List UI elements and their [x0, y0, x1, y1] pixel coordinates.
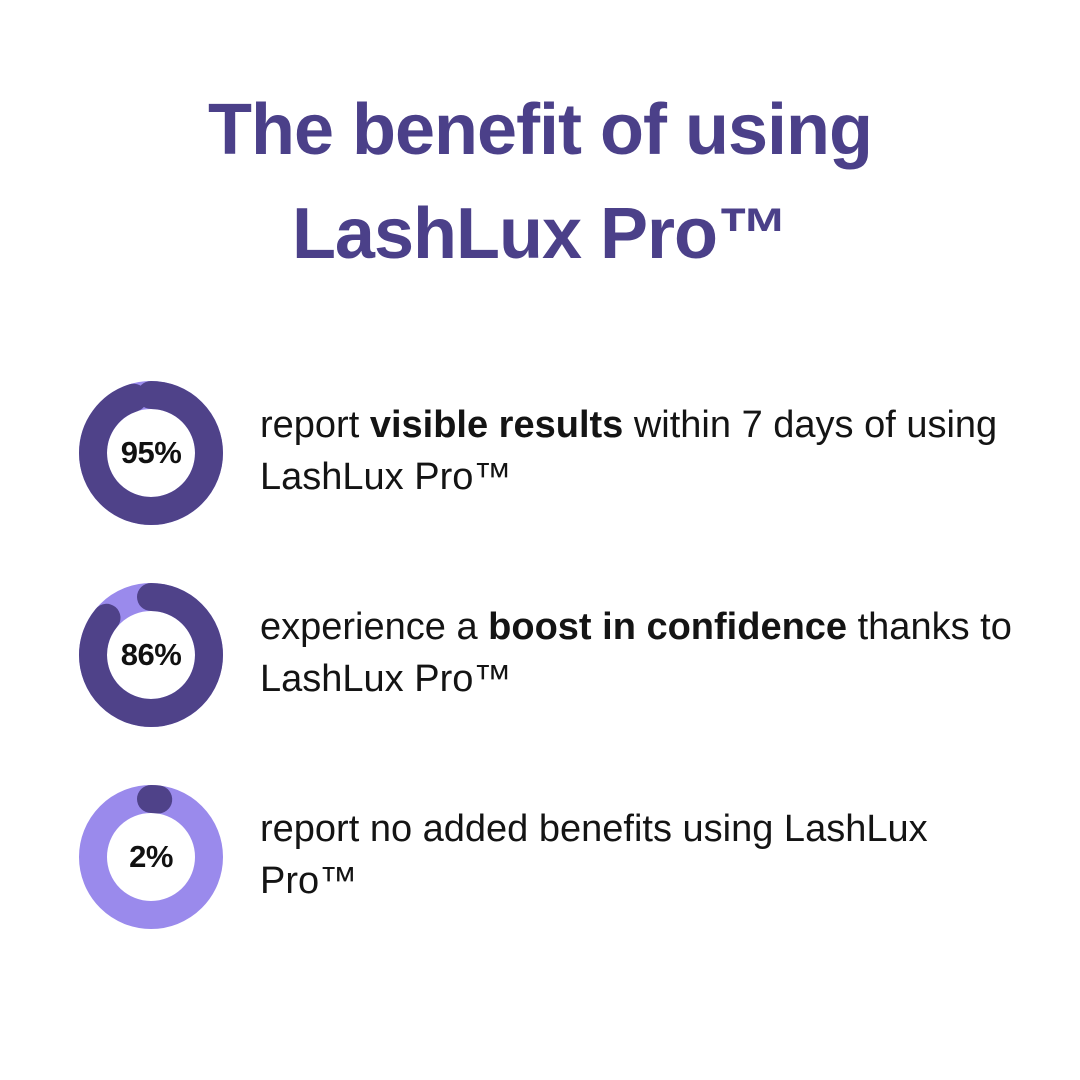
stat-list: 95% report visible results within 7 days…: [78, 373, 1028, 937]
donut-value-label: 86%: [78, 582, 224, 728]
caption-pre: report: [260, 404, 370, 446]
caption-pre: report no added benefits using LashLux P…: [260, 808, 928, 902]
title-line-2: LashLux Pro™: [0, 182, 1080, 286]
donut-chart-86: 86%: [78, 582, 224, 728]
stat-row: 2% report no added benefits using LashLu…: [78, 777, 1028, 937]
stat-caption: report no added benefits using LashLux P…: [224, 777, 1020, 907]
page-title: The benefit of using LashLux Pro™: [0, 78, 1080, 286]
donut-chart-95: 95%: [78, 380, 224, 526]
stat-caption: experience a boost in confidence thanks …: [224, 575, 1020, 705]
caption-pre: experience a: [260, 606, 488, 648]
stat-row: 95% report visible results within 7 days…: [78, 373, 1028, 533]
donut-chart-2: 2%: [78, 784, 224, 930]
stat-caption: report visible results within 7 days of …: [224, 373, 1020, 503]
donut-value-label: 2%: [78, 784, 224, 930]
caption-bold: visible results: [370, 404, 623, 446]
caption-bold: boost in confidence: [488, 606, 847, 648]
title-line-1: The benefit of using: [0, 78, 1080, 182]
donut-value-label: 95%: [78, 380, 224, 526]
stat-row: 86% experience a boost in confidence tha…: [78, 575, 1028, 735]
infographic-poster: The benefit of using LashLux Pro™ 95% re…: [0, 0, 1080, 1080]
